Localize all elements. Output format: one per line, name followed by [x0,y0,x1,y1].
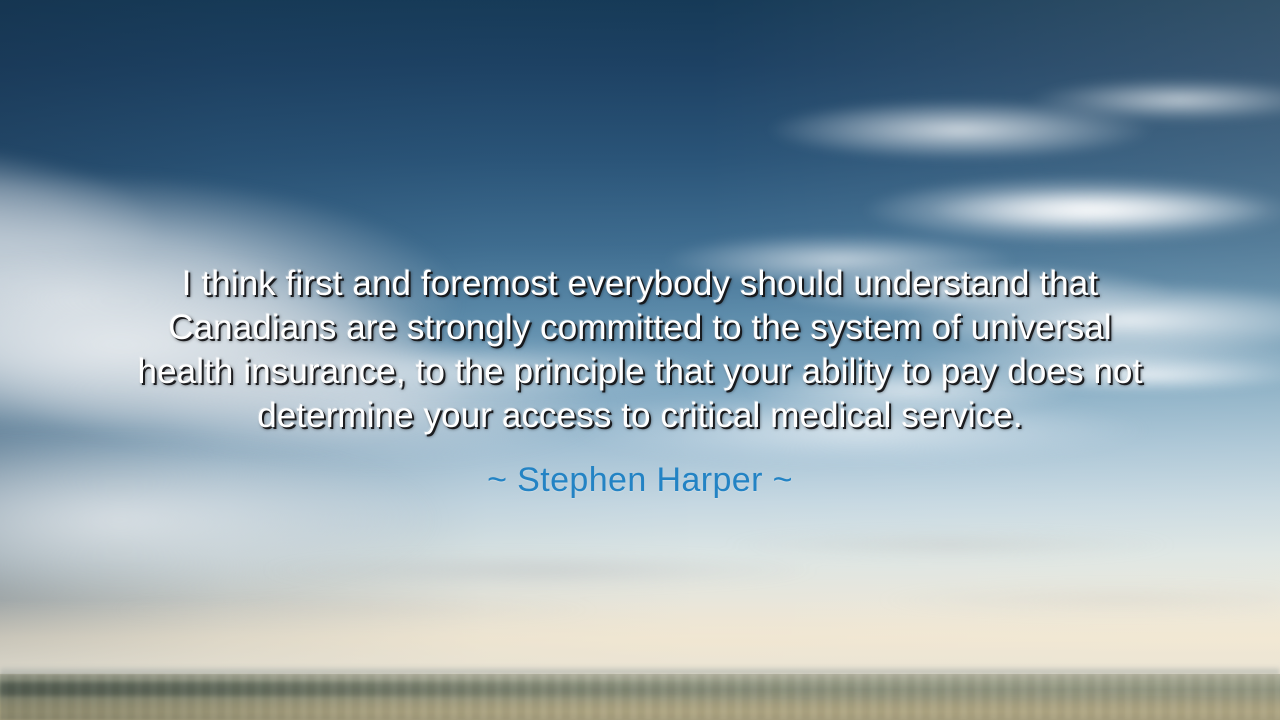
quote-text: I think first and foremost everybody sho… [135,262,1145,438]
quote-attribution: ~ Stephen Harper ~ [487,460,793,500]
horizon-line [0,666,1280,674]
ground-texture [0,674,1280,720]
quote-block: I think first and foremost everybody sho… [0,262,1280,500]
quote-image-canvas: I think first and foremost everybody sho… [0,0,1280,720]
